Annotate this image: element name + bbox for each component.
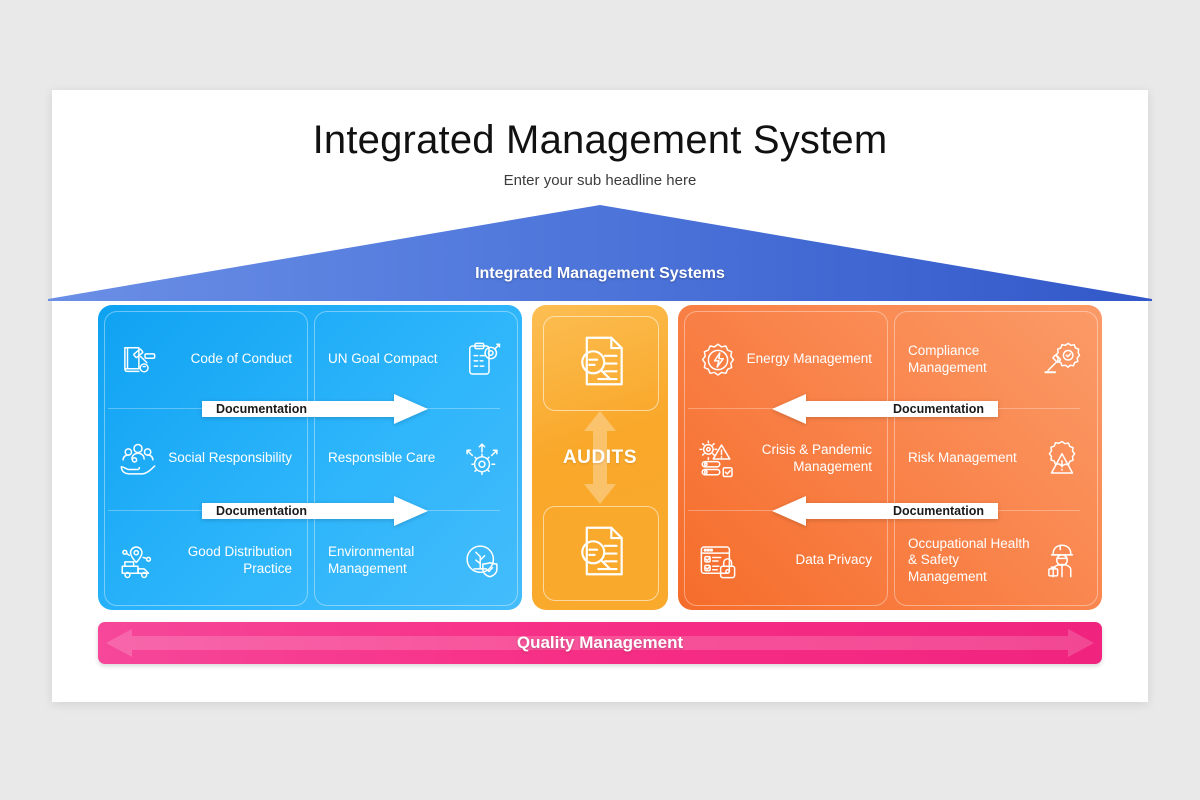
cell-risk-management[interactable]: Risk Management xyxy=(894,410,1096,507)
cell-label: Energy Management xyxy=(746,351,876,367)
delivery-truck-location-icon xyxy=(110,533,166,589)
page-subtitle: Enter your sub headline here xyxy=(52,172,1148,189)
document-magnifier-icon xyxy=(570,330,632,397)
cell-label: Code of Conduct xyxy=(166,351,296,367)
audits-panel[interactable]: AUDITS xyxy=(532,305,668,610)
quality-management-bar[interactable]: Quality Management xyxy=(98,622,1102,664)
documentation-arrow-label: Documentation xyxy=(216,496,307,526)
documentation-arrow-right-1[interactable]: Documentation xyxy=(202,394,428,424)
cell-responsible-care[interactable]: Responsible Care xyxy=(314,410,516,507)
tree-shield-icon xyxy=(454,533,510,589)
documentation-arrow-label: Documentation xyxy=(216,394,307,424)
cell-label: UN Goal Compact xyxy=(324,351,454,367)
cell-label: Social Responsibility xyxy=(166,450,296,466)
cell-crisis-pandemic-management[interactable]: Crisis & Pandemic Management xyxy=(684,410,886,507)
documentation-arrow-label: Documentation xyxy=(893,394,984,424)
roof-triangle: Integrated Management Systems xyxy=(48,205,1152,301)
cell-label: Good Distribution Practice xyxy=(166,544,296,577)
people-in-hand-icon xyxy=(110,431,166,487)
browser-lock-checklist-icon xyxy=(690,533,746,589)
law-book-gavel-icon xyxy=(110,332,166,388)
page-title: Integrated Management System xyxy=(52,118,1148,163)
gear-bolt-icon xyxy=(690,332,746,388)
left-blue-panel[interactable]: Code of Conduct UN Goal Compact xyxy=(98,305,522,610)
quality-management-label: Quality Management xyxy=(98,622,1102,664)
documentation-arrow-left-1[interactable]: Documentation xyxy=(772,394,998,424)
clipboard-target-icon xyxy=(454,332,510,388)
pillars-row: Code of Conduct UN Goal Compact xyxy=(98,305,1102,610)
audit-document-card-top[interactable] xyxy=(543,316,659,411)
cell-label: Risk Management xyxy=(904,450,1034,466)
documentation-arrow-label: Documentation xyxy=(893,496,984,526)
cell-good-distribution-practice[interactable]: Good Distribution Practice xyxy=(104,512,306,609)
audit-document-card-bottom[interactable] xyxy=(543,506,659,601)
cell-label: Environmental Management xyxy=(324,544,454,577)
cell-label: Occupational Health & Safety Management xyxy=(904,536,1034,585)
right-orange-panel[interactable]: Energy Management Compliance Management xyxy=(678,305,1102,610)
slide-canvas: Integrated Management System Enter your … xyxy=(52,90,1148,702)
gavel-badge-icon xyxy=(1034,332,1090,388)
slide-stage: Integrated Management System Enter your … xyxy=(0,0,1200,800)
worker-helmet-icon xyxy=(1034,533,1090,589)
cell-social-responsibility[interactable]: Social Responsibility xyxy=(104,410,306,507)
documentation-arrow-left-2[interactable]: Documentation xyxy=(772,496,998,526)
gear-arrows-icon xyxy=(454,431,510,487)
cell-label: Compliance Management xyxy=(904,343,1034,376)
documentation-arrow-right-2[interactable]: Documentation xyxy=(202,496,428,526)
cell-occupational-health-safety-management[interactable]: Occupational Health & Safety Management xyxy=(894,512,1096,609)
audits-center: AUDITS xyxy=(532,409,668,506)
audits-label: AUDITS xyxy=(532,409,668,506)
cell-environmental-management[interactable]: Environmental Management xyxy=(314,512,516,609)
cell-label: Crisis & Pandemic Management xyxy=(746,442,876,475)
cell-label: Responsible Care xyxy=(324,450,454,466)
cell-label: Data Privacy xyxy=(746,552,876,568)
gear-warning-checklist-icon xyxy=(690,431,746,487)
cell-data-privacy[interactable]: Data Privacy xyxy=(684,512,886,609)
gear-warning-triangle-icon xyxy=(1034,431,1090,487)
document-magnifier-icon xyxy=(570,520,632,587)
